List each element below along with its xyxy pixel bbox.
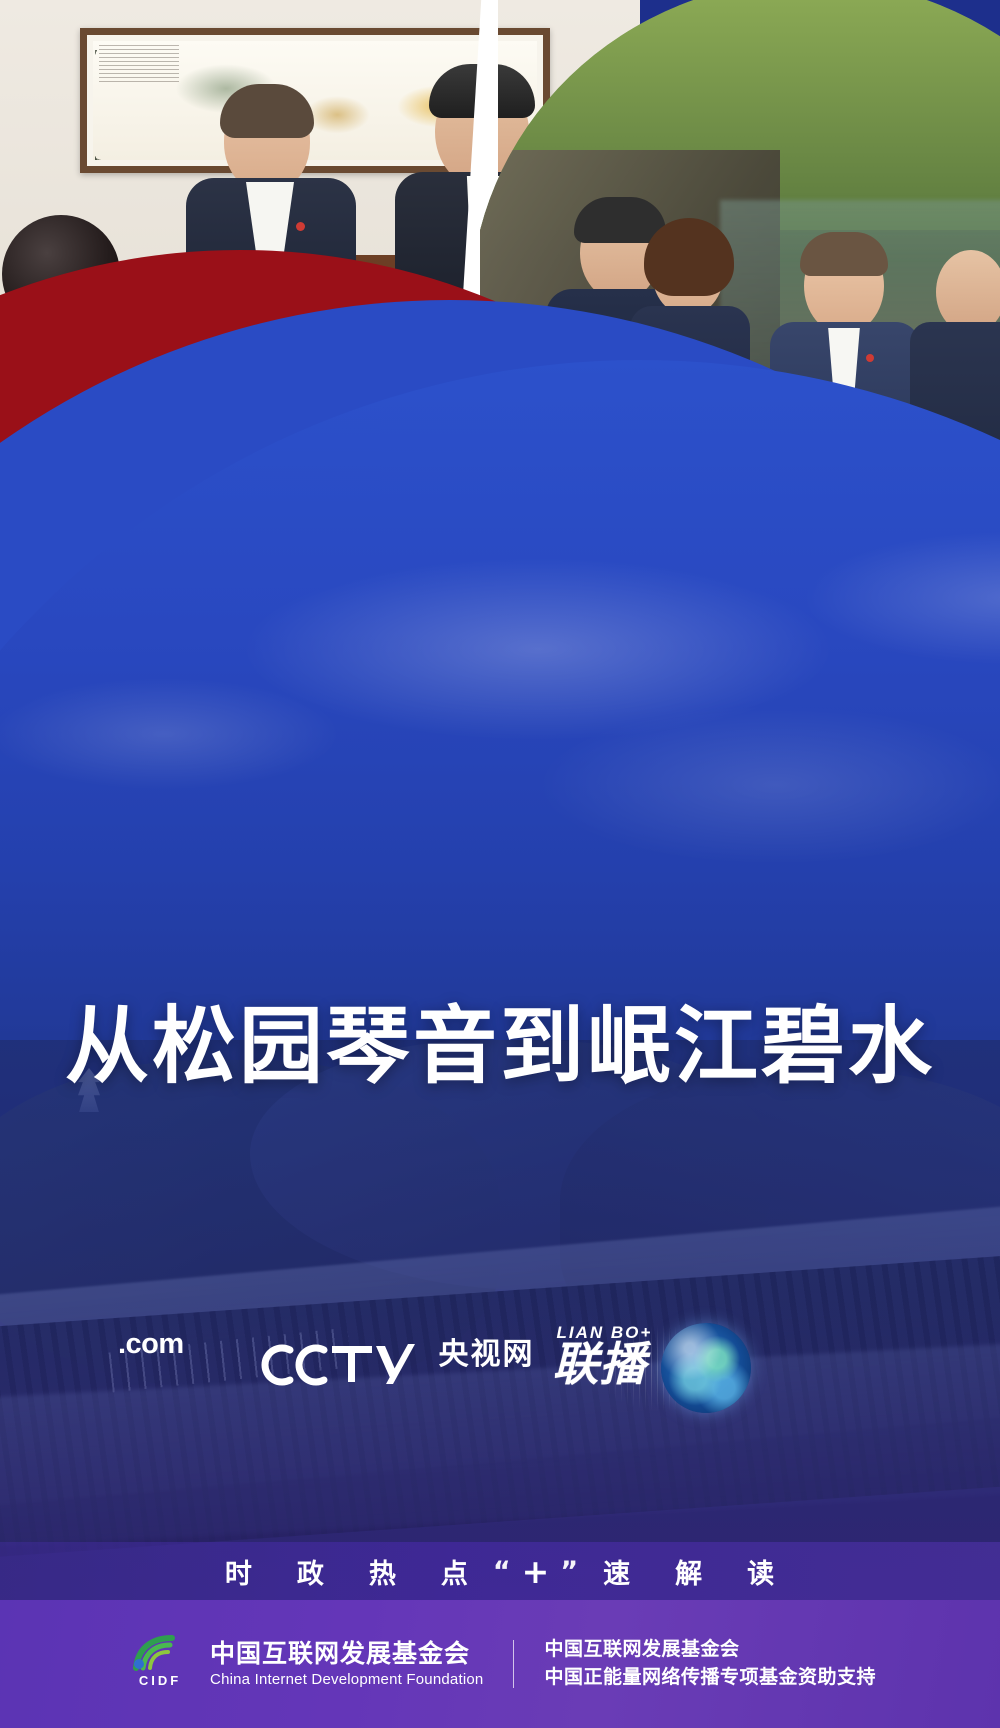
- lianbo-cn-label: 联播: [553, 1341, 647, 1387]
- cctv-cn-label: 央视网: [439, 1340, 535, 1370]
- cidf-cn-label: 中国互联网发展基金会: [210, 1640, 483, 1669]
- footer-divider: [513, 1640, 514, 1688]
- funding-line-1: 中国互联网发展基金会: [544, 1636, 876, 1664]
- logo-row: 央视网 .com LIAN BO+ 联播 +: [0, 1300, 1000, 1430]
- slogan-char-4: 速: [603, 1552, 631, 1591]
- slogan-quote-close: ”: [560, 1556, 579, 1587]
- cidf-wave-icon: CIDF: [124, 1635, 196, 1693]
- lianbo-logo[interactable]: LIAN BO+ 联播 +: [553, 1317, 743, 1413]
- globe-icon: [661, 1323, 751, 1413]
- cctv-wordmark-icon: [258, 1336, 433, 1394]
- cidf-name-block: 中国互联网发展基金会 China Internet Development Fo…: [210, 1640, 483, 1689]
- slogan-char-0: 时: [225, 1552, 253, 1591]
- slogan-char-6: 读: [747, 1552, 775, 1591]
- slogan-plus: +: [522, 1552, 551, 1591]
- slogan-char-3: 点: [441, 1552, 469, 1591]
- cidf-en-label: China Internet Development Foundation: [210, 1671, 483, 1688]
- funding-note: 中国互联网发展基金会 中国正能量网络传播专项基金资助支持: [544, 1636, 876, 1691]
- cctv-domain-label: .com: [118, 1330, 184, 1359]
- slogan-char-5: 解: [675, 1552, 703, 1591]
- funding-line-2: 中国正能量网络传播专项基金资助支持: [544, 1664, 876, 1692]
- footer-bar: CIDF 中国互联网发展基金会 China Internet Developme…: [0, 1600, 1000, 1728]
- cidf-abbr-label: CIDF: [124, 1673, 196, 1688]
- page-title: 从松园琴音到岷江碧水: [0, 1004, 1000, 1088]
- poster-root: 从松园琴音到岷江碧水 央视网 .com: [0, 0, 1000, 1728]
- slogan-bar: 时 政 热 点 “ + ” 速 解 读: [0, 1542, 1000, 1600]
- cctv-logo[interactable]: 央视网 .com: [258, 1336, 535, 1394]
- slogan-char-2: 热: [369, 1552, 397, 1591]
- slogan-char-1: 政: [297, 1552, 325, 1591]
- slogan-quote-open: “: [493, 1556, 512, 1587]
